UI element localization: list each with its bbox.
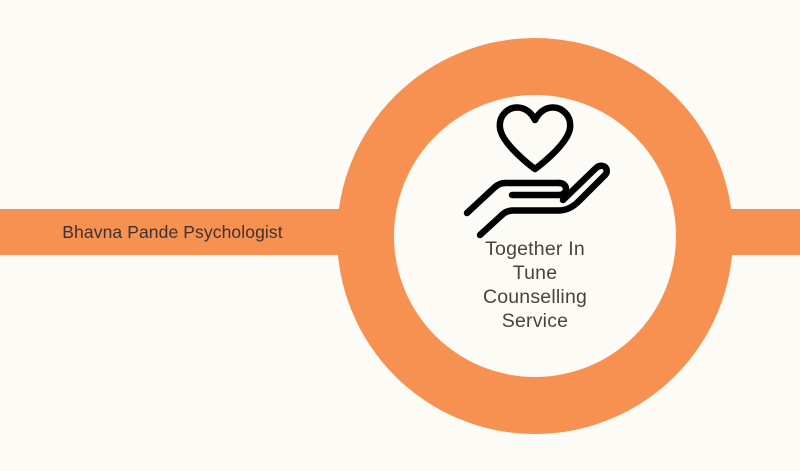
heart-in-hand-icon: [455, 101, 615, 241]
tagline-line-4: Service: [483, 309, 587, 333]
heart-shape: [500, 107, 570, 169]
tagline-line-2: Tune: [483, 261, 587, 285]
brand-name: Bhavna Pande Psychologist: [0, 209, 345, 255]
tagline-line-1: Together In: [483, 237, 587, 261]
tagline-line-3: Counselling: [483, 285, 587, 309]
emblem-content: Together In Tune Counselling Service: [394, 95, 676, 377]
emblem-tagline: Together In Tune Counselling Service: [483, 237, 587, 333]
logo-canvas: Bhavna Pande Psychologist Together In Tu…: [0, 0, 800, 471]
